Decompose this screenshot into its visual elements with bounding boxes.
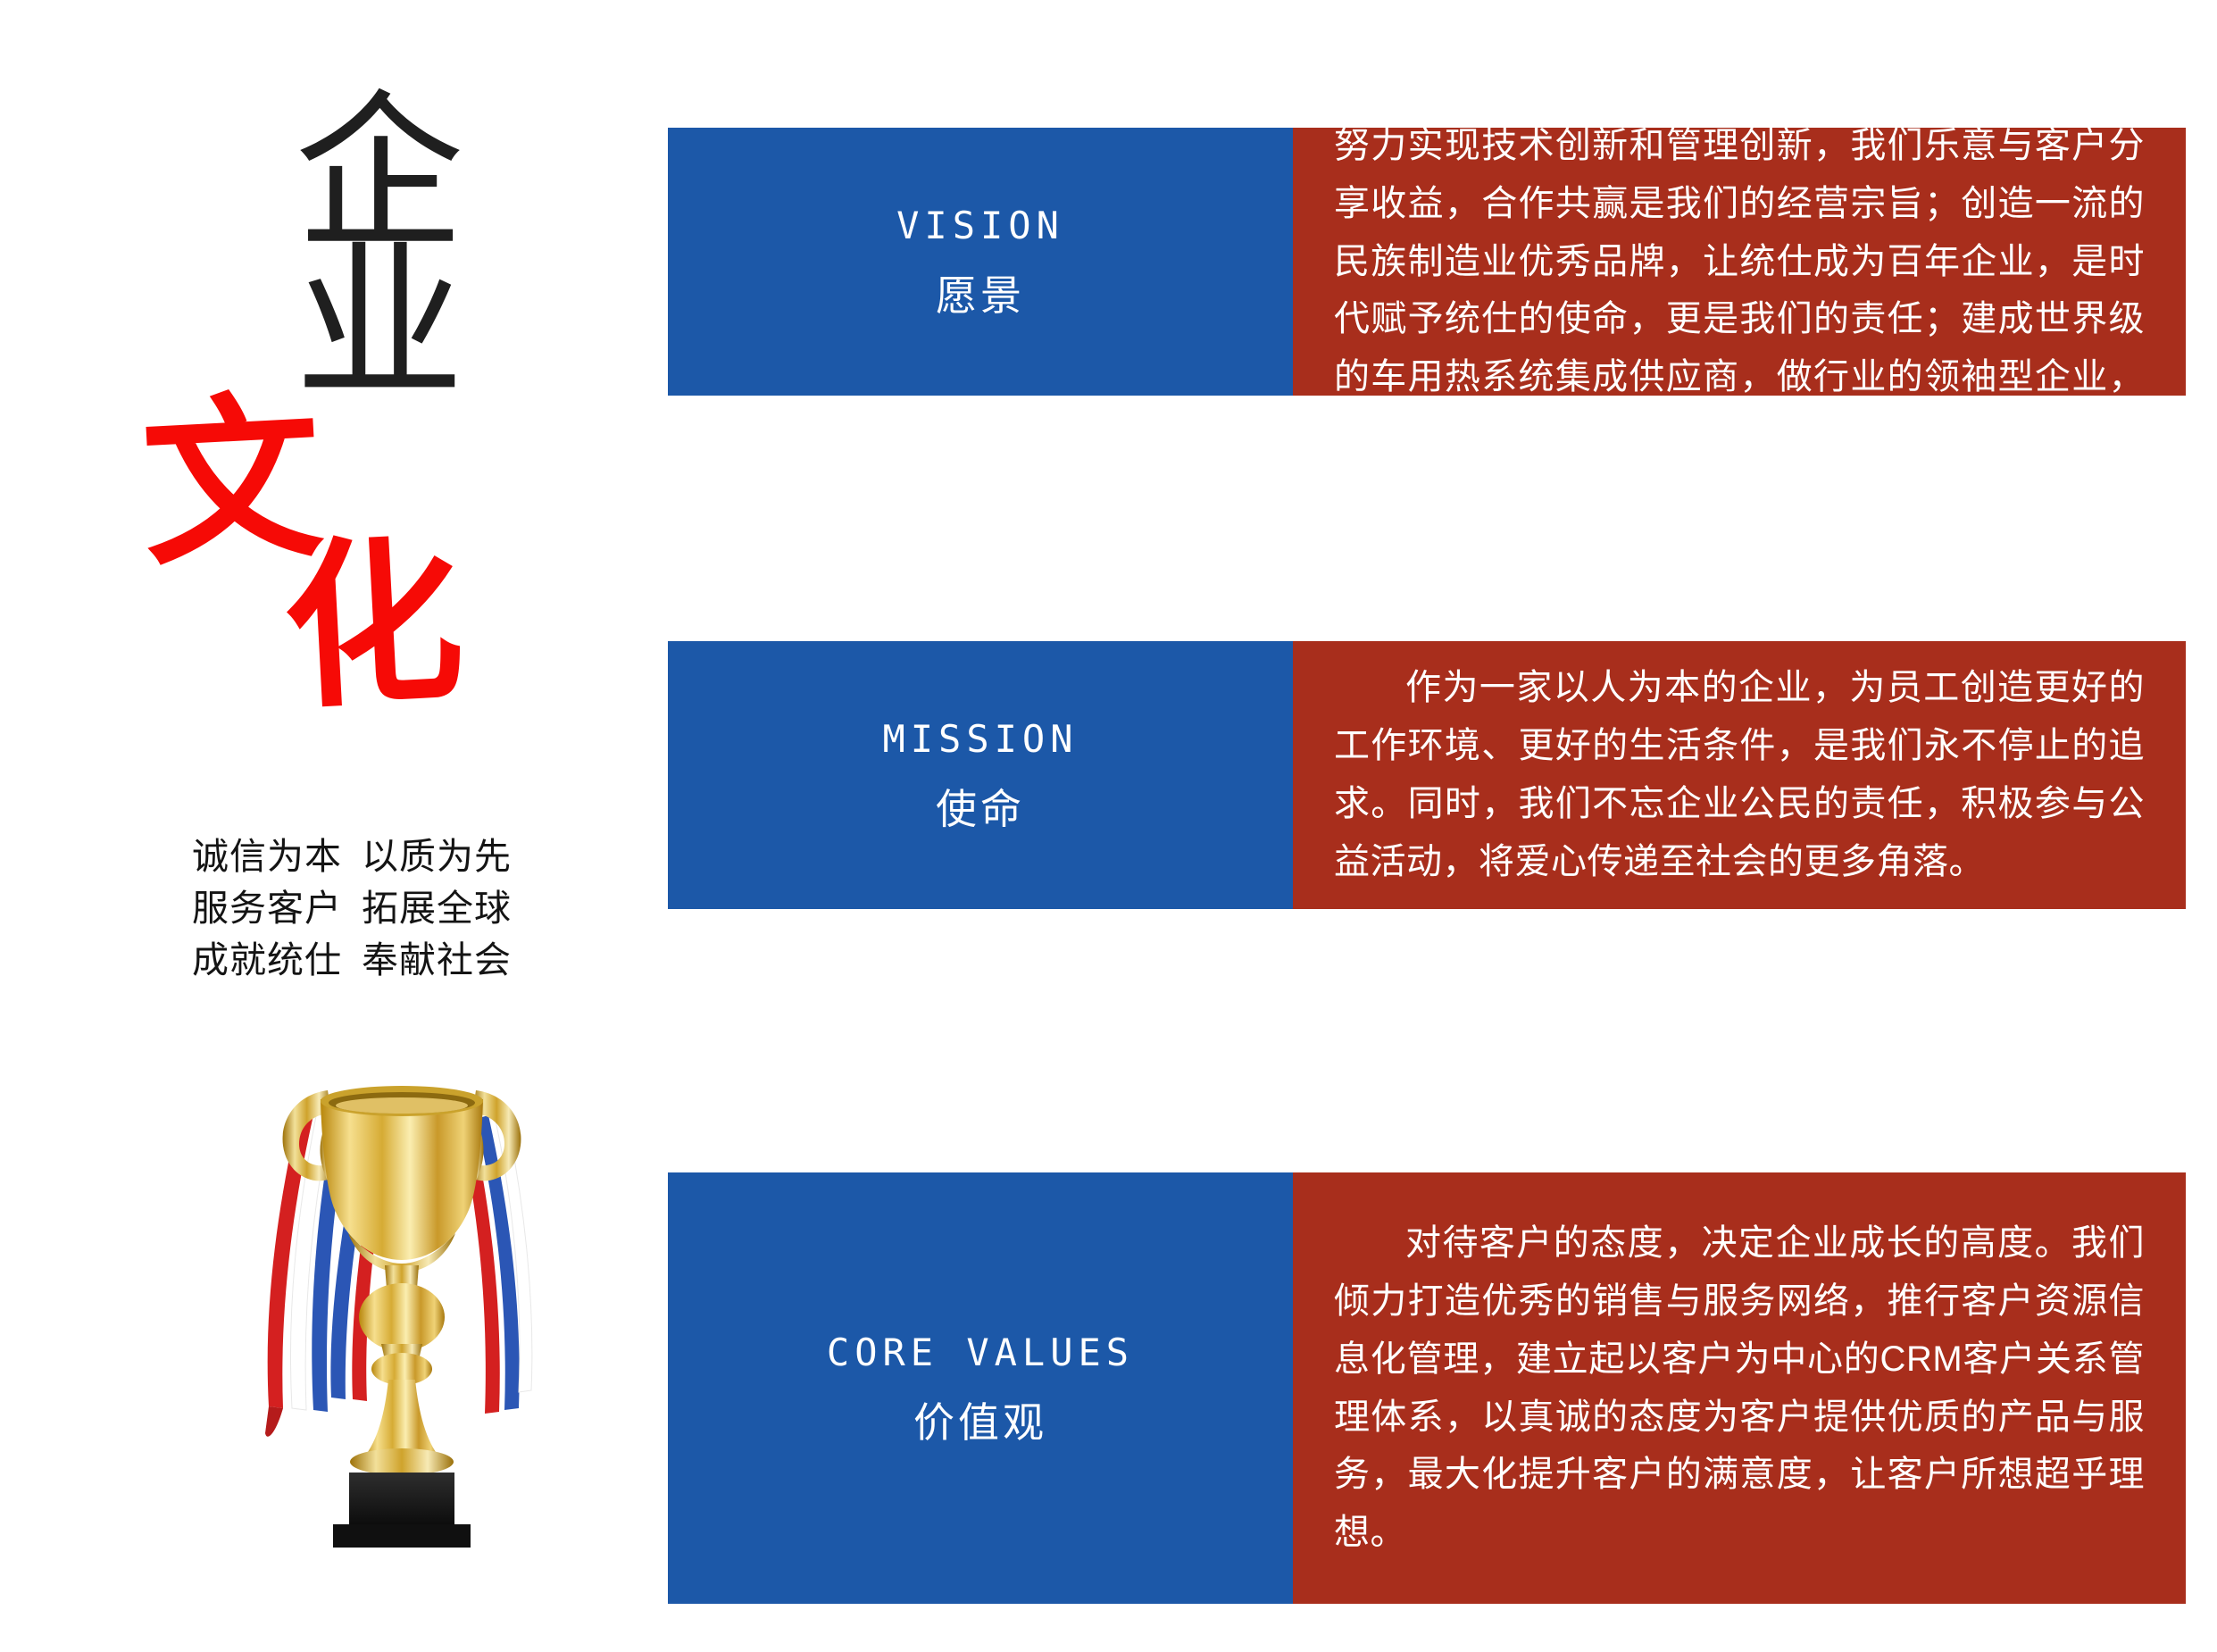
tagline-line-2-left: 服务客户 xyxy=(192,888,342,929)
tagline-line-3-left: 成就统仕 xyxy=(192,939,342,980)
tagline-line-1-left: 诚信为本 xyxy=(192,836,342,877)
tagline: 诚信为本以质为先 服务客户拓展全球 成就统仕奉献社会 xyxy=(192,830,567,987)
section-vision-label-cn: 愿景 xyxy=(936,275,1025,316)
section-mission-body: 作为一家以人为本的企业，为员工创造更好的工作环境、更好的生活条件，是我们永不停止… xyxy=(1334,659,2145,890)
section-mission-label-pane: MISSION 使命 xyxy=(668,641,1293,909)
tagline-line-2: 服务客户拓展全球 xyxy=(192,882,567,934)
section-core-values-label-en: CORE VALUES xyxy=(827,1334,1134,1372)
section-mission-label-en: MISSION xyxy=(882,721,1078,758)
tagline-line-1: 诚信为本以质为先 xyxy=(192,830,567,882)
trophy-cup-icon xyxy=(228,1076,576,1549)
section-vision-label-en: VISION xyxy=(896,207,1064,245)
section-vision-label-pane: VISION 愿景 xyxy=(668,128,1293,396)
tagline-line-2-right: 拓展全球 xyxy=(362,888,512,929)
section-mission-label-cn: 使命 xyxy=(936,788,1025,830)
page-title-char-ye: 业 xyxy=(295,239,464,409)
section-vision-body: 我们深知统仕的成功取决于客户的成功，我们努力实现技术创新和管理创新，我们乐意与客… xyxy=(1334,59,2145,464)
section-core-values: CORE VALUES 价值观 对待客户的态度，决定企业成长的高度。我们倾力打造… xyxy=(668,1172,2186,1604)
section-vision-text-pane: 我们深知统仕的成功取决于客户的成功，我们努力实现技术创新和管理创新，我们乐意与客… xyxy=(1293,128,2186,396)
section-vision: VISION 愿景 我们深知统仕的成功取决于客户的成功，我们努力实现技术创新和管… xyxy=(668,128,2186,396)
section-core-values-text-pane: 对待客户的态度，决定企业成长的高度。我们倾力打造优秀的销售与服务网络，推行客户资… xyxy=(1293,1172,2186,1604)
section-core-values-label-cn: 价值观 xyxy=(913,1402,1047,1443)
tagline-line-3-right: 奉献社会 xyxy=(362,939,512,980)
tagline-line-1-right: 以质为先 xyxy=(362,836,512,877)
section-mission-text-pane: 作为一家以人为本的企业，为员工创造更好的工作环境、更好的生活条件，是我们永不停止… xyxy=(1293,641,2186,909)
section-core-values-label-pane: CORE VALUES 价值观 xyxy=(668,1172,1293,1604)
tagline-line-3: 成就统仕奉献社会 xyxy=(192,934,567,986)
section-mission: MISSION 使命 作为一家以人为本的企业，为员工创造更好的工作环境、更好的生… xyxy=(668,641,2186,909)
page-title-char-hua: 化 xyxy=(279,531,467,719)
left-column: 企 业 文 化 诚信为本以质为先 服务客户拓展全球 成就统仕奉献社会 xyxy=(0,0,668,1652)
section-core-values-body: 对待客户的态度，决定企业成长的高度。我们倾力打造优秀的销售与服务网络，推行客户资… xyxy=(1334,1214,2145,1562)
